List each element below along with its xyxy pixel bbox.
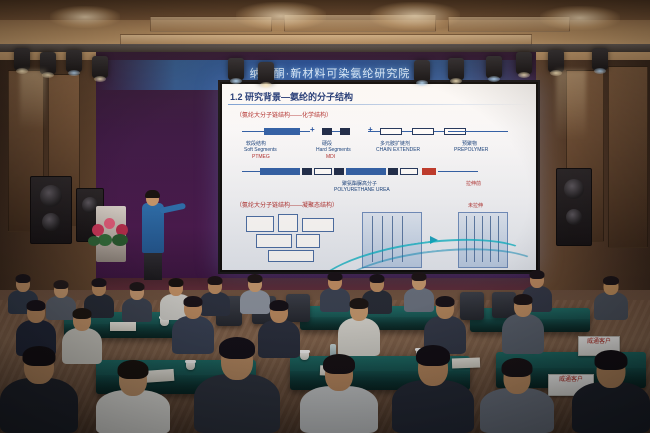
stage-lamp-icon <box>258 62 274 84</box>
presentation-slide: 1.2 研究背景—氨纶的分子结构 （氨纶大分子链结构——化学结构） <box>222 84 536 270</box>
audience-body <box>194 374 280 433</box>
handout-paper <box>110 322 136 331</box>
mdi-label: MDI <box>326 154 335 160</box>
audience-hair <box>27 300 46 311</box>
stage-lamp-icon <box>66 50 82 72</box>
audience-hair <box>370 274 385 283</box>
audience-body <box>122 298 152 322</box>
audience-member <box>480 360 554 433</box>
audience-member <box>572 352 650 433</box>
light-beam <box>20 70 46 130</box>
cup-lid <box>299 350 310 353</box>
ceiling-light-glow <box>370 2 460 30</box>
polyurethane-label-cn: 聚氨酯脲高分子 <box>342 180 377 187</box>
audience-hair <box>436 296 455 307</box>
ceiling-light-glow <box>236 2 326 30</box>
audience-member <box>392 348 474 433</box>
microstructure-block <box>296 234 320 248</box>
flower-petal <box>104 218 115 229</box>
audience-member <box>594 276 628 320</box>
pa-speaker <box>30 176 72 244</box>
microstructure-block <box>268 250 314 262</box>
audience-hair <box>350 298 369 309</box>
conference-photo: 纳米酮·新材料可染氨纶研究院 1.2 研究背景—氨纶的分子结构 （氨纶大分子链结… <box>0 0 650 433</box>
audience-body <box>502 314 544 354</box>
audience-hair <box>23 346 56 366</box>
projection-screen: 1.2 研究背景—氨纶的分子结构 （氨纶大分子链结构——化学结构） <box>218 80 540 274</box>
audience-hair <box>530 270 545 279</box>
presenter-hair <box>145 190 160 198</box>
audience-hair <box>130 282 145 291</box>
stage-lamp-icon <box>486 56 502 78</box>
light-beam <box>556 70 586 140</box>
stage-lamp-icon <box>448 58 464 80</box>
slide-section-one: （氨纶大分子链结构——化学结构） <box>236 110 332 119</box>
prepolymer-label-en: PREPOLYMER <box>454 147 488 153</box>
audience-hair <box>328 272 343 281</box>
audience-body <box>594 292 628 320</box>
slide-section-two: （氨纶大分子链结构——凝聚态结构） <box>236 200 338 209</box>
audience-body <box>480 388 554 433</box>
chain-extender-label-en: CHAIN EXTENDER <box>376 147 420 153</box>
audience-hair <box>169 278 184 287</box>
audience-member <box>338 298 380 356</box>
ptmeg-label: PTMEG <box>252 154 270 160</box>
audience-body <box>572 382 650 433</box>
audience-member <box>0 348 78 433</box>
flower-petal <box>98 234 112 246</box>
ceiling-light-glow <box>540 6 620 30</box>
soft-segment-label-en: Soft Segments <box>244 147 277 153</box>
speaker-cone <box>564 179 584 199</box>
microstructure-block <box>278 214 298 232</box>
audience-member <box>194 340 280 433</box>
microstructure-block <box>246 216 274 232</box>
audience-member <box>122 282 152 322</box>
soft-segment-label-cn: 软段结构 <box>246 140 266 147</box>
hard-segment-label-en: Hard Segments <box>316 147 351 153</box>
prepolymer-label-cn: 预聚物 <box>462 140 477 147</box>
audience-hair <box>219 337 255 359</box>
audience-body <box>300 386 378 433</box>
audience-hair <box>416 345 450 366</box>
flower-petal <box>88 236 100 246</box>
audience-member <box>300 356 378 433</box>
audience-body <box>392 380 474 433</box>
microstructure-block <box>256 234 292 248</box>
ceiling-light-glow <box>50 6 120 28</box>
audience-hair <box>73 308 92 319</box>
stage-lamp-icon <box>414 60 430 82</box>
stage-lamp-icon <box>548 50 564 72</box>
audience-member <box>96 362 170 433</box>
audience-body <box>338 318 380 356</box>
audience-member <box>502 294 544 354</box>
speaker-cone <box>40 185 62 207</box>
unstretched-label: 未拉伸 <box>468 202 483 209</box>
audience-body <box>96 390 170 433</box>
audience-hair <box>248 274 263 283</box>
stretch-label: 拉伸前 <box>466 180 481 187</box>
audience-hair <box>412 272 427 281</box>
audience-hair <box>16 274 31 283</box>
stage-lamp-icon <box>14 48 30 70</box>
pa-speaker <box>556 168 592 246</box>
audience-hair <box>502 358 533 377</box>
wall-panel <box>608 66 648 248</box>
audience-hair <box>595 350 628 370</box>
hard-segment-label-cn: 硬段 <box>322 140 332 147</box>
audience-hair <box>92 278 107 287</box>
stage-lamp-icon <box>516 52 532 74</box>
stage-lamp-icon <box>228 58 244 80</box>
speaker-cone <box>566 209 582 225</box>
flower-arrangement <box>88 214 140 254</box>
slide-title-underline <box>228 104 528 105</box>
stage-lamp-icon <box>92 56 108 78</box>
audience-hair <box>54 280 69 289</box>
plus-sign: + <box>310 125 315 134</box>
slide-title: 1.2 研究背景—氨纶的分子结构 <box>230 90 353 103</box>
audience-hair <box>208 276 223 285</box>
flower-petal <box>112 234 128 246</box>
audience-hair <box>184 296 203 307</box>
polyurethane-label-en: POLYURETHANE UREA <box>334 187 390 193</box>
molecule-chain-row <box>348 128 518 135</box>
chain-extender-label-cn: 多元胺扩链剂 <box>380 140 410 147</box>
audience-hair <box>118 360 149 379</box>
stage-lamp-icon <box>592 48 608 70</box>
molecule-chain-row <box>242 168 502 175</box>
audience-hair <box>270 300 289 311</box>
audience-hair <box>514 294 533 305</box>
audience-hair <box>603 276 619 285</box>
speaker-cone <box>42 213 60 231</box>
audience-hair <box>323 354 355 374</box>
microstructure-block <box>302 218 334 232</box>
audience-body <box>0 378 78 433</box>
